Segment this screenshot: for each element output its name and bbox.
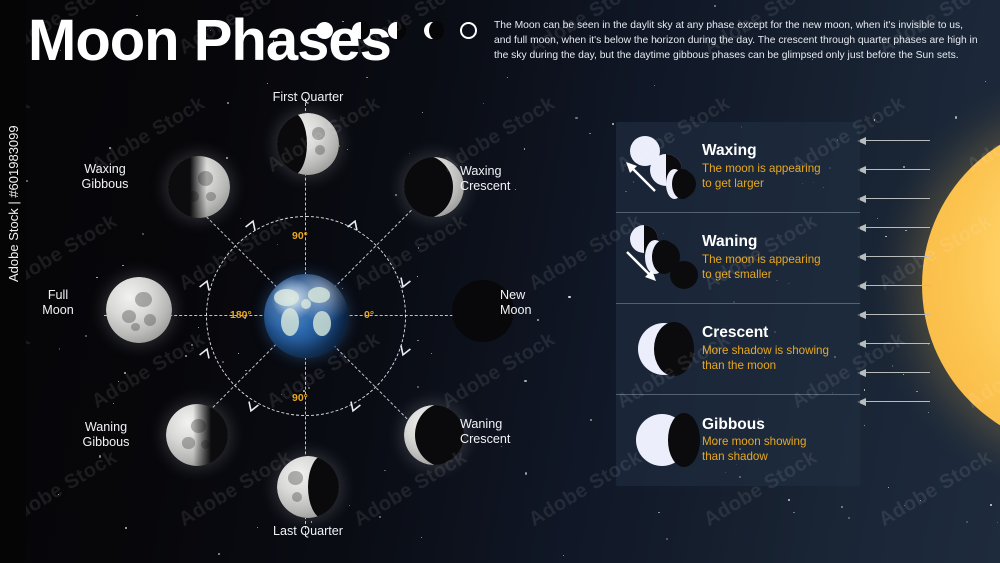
watermark-text: Adobe Stock	[438, 328, 559, 414]
waxing-gibbous-glyph	[352, 22, 369, 39]
waxing-icon	[616, 122, 702, 213]
moon-first-quarter	[277, 113, 339, 175]
moon-waxing-crescent	[404, 157, 464, 217]
legend-title-crescent: Crescent	[702, 324, 829, 343]
sun-ray-arrow-icon	[858, 401, 930, 402]
sun-ray-arrow-icon	[858, 140, 930, 141]
infographic-canvas: Moon Phases The Moon can be seen in the …	[0, 0, 1000, 563]
title-block: Moon Phases	[28, 10, 391, 71]
label-first-quarter: First Quarter	[248, 90, 368, 105]
legend-desc-waning: The moon is appearing to get smaller	[702, 253, 821, 283]
label-waxing-crescent: Waxing Crescent	[460, 164, 580, 195]
legend-row-crescent[interactable]: Crescent More shadow is showing than the…	[616, 304, 860, 395]
new-moon-glyph	[460, 22, 477, 39]
sun-ray-arrow-icon	[858, 169, 930, 170]
full-moon-glyph	[316, 22, 333, 39]
legend-row-gibbous[interactable]: Gibbous More moon showing than shadow	[616, 395, 860, 486]
moon-waning-crescent	[404, 405, 464, 465]
intro-paragraph: The Moon can be seen in the daylit sky a…	[494, 18, 980, 64]
legend-title-gibbous: Gibbous	[702, 416, 806, 435]
crescent-glyph	[424, 22, 441, 39]
sun-ray-arrow-icon	[858, 372, 930, 373]
legend-row-waxing[interactable]: Waxing The moon is appearing to get larg…	[616, 122, 860, 213]
degree-label-90-top: 90°	[292, 230, 308, 242]
sunlight-rays	[858, 140, 938, 430]
legend-text-waxing: Waxing The moon is appearing to get larg…	[702, 142, 829, 191]
sun-ray-arrow-icon	[858, 227, 930, 228]
waning-icon	[616, 213, 702, 304]
degree-label-0: 0°	[364, 309, 374, 321]
legend-row-waning[interactable]: Waning The moon is appearing to get smal…	[616, 213, 860, 304]
moon-last-quarter	[277, 456, 339, 518]
legend-panel: Waxing The moon is appearing to get larg…	[616, 122, 860, 486]
page-title: Moon Phases	[28, 10, 391, 71]
watermark-text: Adobe Stock	[875, 446, 996, 532]
arrow-up-left-icon	[624, 160, 658, 194]
label-waxing-gibbous: Waxing Gibbous	[45, 162, 165, 193]
label-new-moon: New Moon	[500, 288, 620, 319]
orbit-arrow-5	[244, 400, 259, 415]
orbit-diagram: 0° 90° 180° 90°	[206, 216, 406, 416]
stock-credit: Adobe Stock | #601983099	[6, 125, 21, 282]
legend-desc-gibbous: More moon showing than shadow	[702, 435, 806, 465]
legend-desc-crescent: More shadow is showing than the moon	[702, 344, 829, 374]
crescent-icon	[616, 304, 702, 395]
degree-label-90-bottom: 90°	[292, 392, 308, 404]
moon-waning-gibbous	[166, 404, 228, 466]
legend-text-waning: Waning The moon is appearing to get smal…	[702, 233, 829, 282]
sun-ray-arrow-icon	[858, 343, 930, 344]
label-waning-gibbous: Waning Gibbous	[46, 420, 166, 451]
orbit-arrow-7	[396, 344, 411, 359]
legend-text-gibbous: Gibbous More moon showing than shadow	[702, 416, 814, 465]
degree-label-180: 180°	[230, 309, 252, 321]
legend-desc-waxing: The moon is appearing to get larger	[702, 162, 821, 192]
legend-title-waning: Waning	[702, 233, 821, 252]
title-moon-glyphs	[316, 22, 477, 39]
sun-ray-arrow-icon	[858, 285, 930, 286]
sun-ray-arrow-icon	[858, 314, 930, 315]
sun-ray-arrow-icon	[858, 198, 930, 199]
gibbous-icon	[616, 395, 702, 486]
moon-waxing-gibbous	[168, 156, 230, 218]
label-waning-crescent: Waning Crescent	[460, 417, 580, 448]
orbit-arrow-4	[198, 344, 213, 359]
first-quarter-glyph	[388, 22, 405, 39]
orbit-arrow-6	[346, 400, 361, 415]
legend-text-crescent: Crescent More shadow is showing than the…	[702, 324, 837, 373]
sun-ray-arrow-icon	[858, 256, 930, 257]
earth-globe	[264, 274, 348, 358]
label-last-quarter: Last Quarter	[248, 524, 368, 539]
legend-title-waxing: Waxing	[702, 142, 821, 161]
